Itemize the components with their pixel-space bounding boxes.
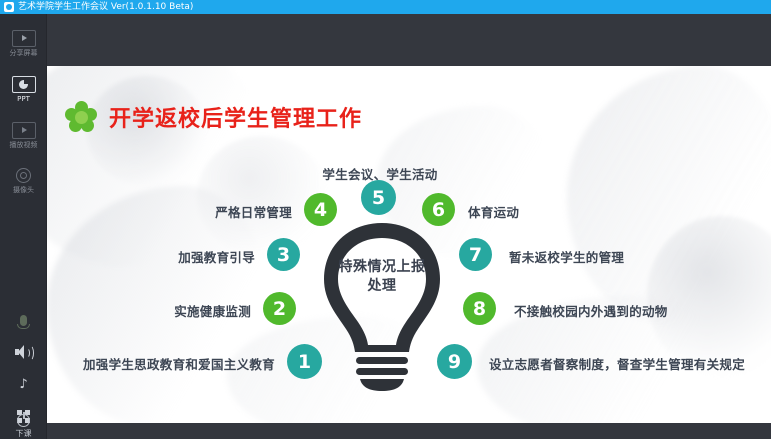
node-number-1: 1 <box>298 351 311 373</box>
node-circle-2[interactable]: 2 <box>263 292 296 325</box>
music-icon: ♪ <box>19 378 27 391</box>
window-title: 艺术学院学生工作会议 Ver(1.0.1.10 Beta) <box>18 0 193 14</box>
node-label-4: 严格日常管理 <box>144 202 292 221</box>
node-circle-5[interactable]: 5 <box>361 180 396 215</box>
sidebar-label-share-screen: 分享屏幕 <box>10 49 38 57</box>
node-circle-1[interactable]: 1 <box>287 344 322 379</box>
node-label-5: 学生会议、学生活动 <box>302 164 458 183</box>
bulb-center-text: 特殊情况上报处理 <box>333 258 431 296</box>
node-label-9: 设立志愿者督察制度，督查学生管理有关规定 <box>489 354 745 373</box>
speaker-button[interactable] <box>0 336 47 368</box>
flower-icon <box>65 101 97 133</box>
node-number-5: 5 <box>372 187 385 209</box>
sidebar-item-ppt[interactable]: PPT <box>0 66 47 112</box>
end-class-button[interactable]: 下课 <box>0 414 47 439</box>
node-circle-8[interactable]: 8 <box>463 292 496 325</box>
node-label-2: 实施健康监测 <box>103 301 251 320</box>
node-label-1: 加强学生思政教育和爱国主义教育 <box>63 354 275 373</box>
music-button[interactable]: ♪ <box>0 368 47 400</box>
node-circle-4[interactable]: 4 <box>304 193 337 226</box>
node-circle-7[interactable]: 7 <box>459 238 492 271</box>
end-class-label: 下课 <box>16 429 32 439</box>
camera-icon <box>16 168 31 183</box>
bottom-bar <box>47 423 771 439</box>
sidebar-item-camera[interactable]: 摄像头 <box>0 158 47 204</box>
sidebar-item-play-video[interactable]: 播放视频 <box>0 112 47 158</box>
sidebar-item-share-screen[interactable]: 分享屏幕 <box>0 20 47 66</box>
page-title: 开学返校后学生管理工作 <box>109 101 362 133</box>
watermark-decor <box>47 66 267 266</box>
node-label-8: 不接触校园内外遇到的动物 <box>514 301 668 320</box>
sidebar-label-ppt: PPT <box>17 95 30 103</box>
slide-canvas: 开学返校后学生管理工作 特殊情况上报处理 1 加强学生思政教育和爱国主义教育 2… <box>47 66 771 423</box>
node-circle-6[interactable]: 6 <box>422 193 455 226</box>
microphone-icon <box>20 315 27 326</box>
node-label-6: 体育运动 <box>468 202 519 221</box>
microphone-button[interactable] <box>0 304 47 336</box>
node-circle-3[interactable]: 3 <box>267 238 300 271</box>
share-screen-icon <box>12 30 36 47</box>
watermark-decor <box>197 136 327 256</box>
play-video-icon <box>12 122 36 139</box>
node-number-2: 2 <box>273 298 286 320</box>
node-number-6: 6 <box>432 199 445 221</box>
node-number-3: 3 <box>277 244 290 266</box>
sidebar-label-camera: 摄像头 <box>13 186 34 194</box>
power-icon <box>17 414 30 427</box>
ppt-icon <box>12 76 36 93</box>
speaker-icon <box>15 345 33 359</box>
node-label-3: 加强教育引导 <box>107 247 255 266</box>
app-logo-icon <box>4 2 14 12</box>
slide-title-row: 开学返校后学生管理工作 <box>65 101 362 133</box>
node-label-7: 暂未返校学生的管理 <box>509 247 624 266</box>
title-bar: 艺术学院学生工作会议 Ver(1.0.1.10 Beta) <box>0 0 771 14</box>
node-number-9: 9 <box>448 351 461 373</box>
node-number-8: 8 <box>473 298 486 320</box>
left-sidebar: 分享屏幕 PPT 播放视频 摄像头 ♪ <box>0 14 47 439</box>
sidebar-label-play-video: 播放视频 <box>10 141 38 149</box>
app-window: 艺术学院学生工作会议 Ver(1.0.1.10 Beta) 分享屏幕 PPT 播… <box>0 0 771 439</box>
lightbulb-icon: 特殊情况上报处理 <box>315 221 449 393</box>
watermark-decor <box>647 216 771 376</box>
node-circle-9[interactable]: 9 <box>437 344 472 379</box>
watermark-decor <box>567 66 771 326</box>
node-number-7: 7 <box>469 244 482 266</box>
node-number-4: 4 <box>314 199 327 221</box>
